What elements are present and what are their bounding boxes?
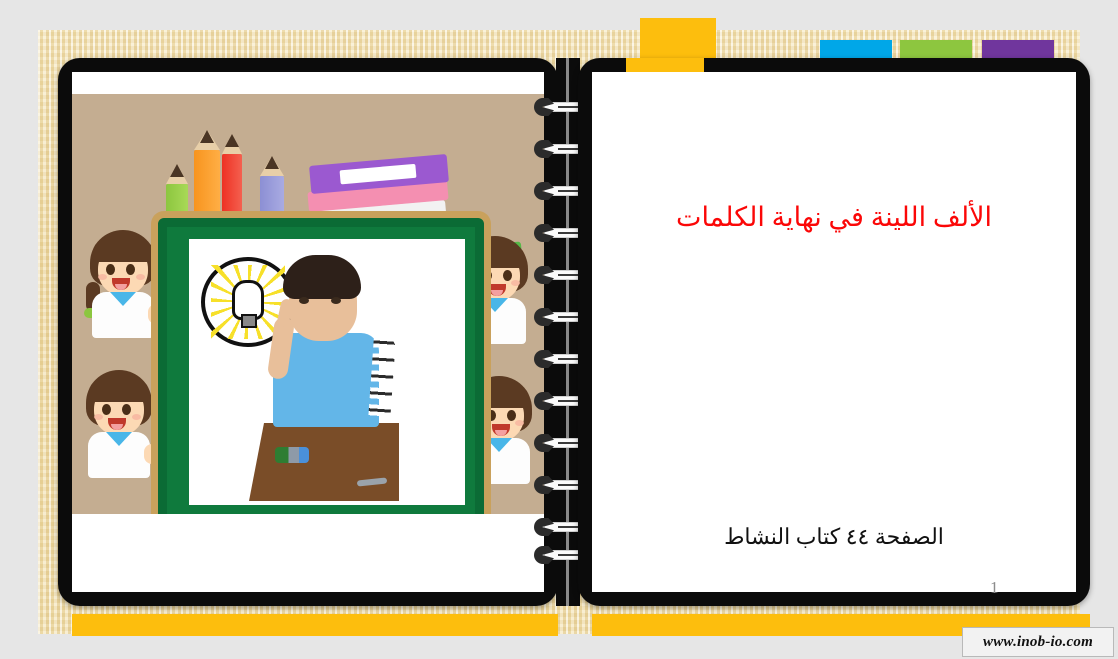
lesson-reference: الصفحة ٤٤ كتاب النشاط	[612, 524, 1056, 550]
slide-canvas: ماذا سندرس لهذا اليوم؟ الألف اللينة في ن…	[0, 0, 1118, 659]
accent-bar-left	[72, 614, 558, 636]
photo-thinking-boy	[249, 251, 399, 501]
blackboard	[158, 218, 484, 514]
notebook-page-right: الألف اللينة في نهاية الكلمات الصفحة ٤٤ …	[578, 58, 1090, 606]
lesson-title: الألف اللينة في نهاية الكلمات	[612, 202, 1056, 233]
notebook-page-left: ماذا سندرس لهذا اليوم؟	[58, 58, 558, 606]
page-sheet-left: ماذا سندرس لهذا اليوم؟	[72, 72, 544, 592]
page-sheet-right: الألف اللينة في نهاية الكلمات الصفحة ٤٤ …	[592, 72, 1076, 592]
blackboard-surface	[189, 239, 465, 505]
watermark: www.inob-io.com	[962, 627, 1114, 657]
lesson-artwork: ماذا سندرس لهذا اليوم؟	[72, 94, 544, 514]
cartoon-boy-bottom-left	[82, 370, 156, 478]
cartoon-girl-top-left	[86, 230, 160, 338]
page-number: 1	[990, 578, 999, 598]
